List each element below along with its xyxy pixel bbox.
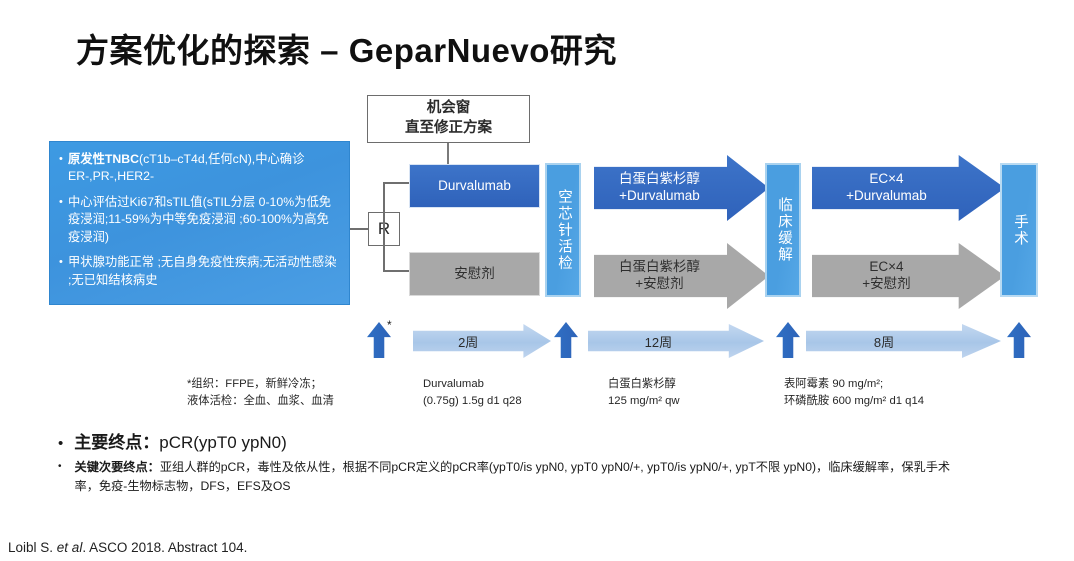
biopsy-footnote-marker: * (387, 318, 392, 332)
note-nab-paclitaxel-dosing: 白蛋白紫杉醇 125 mg/m² qw (608, 376, 680, 410)
randomization-split-line (383, 182, 385, 272)
note-ec-dosing: 表阿霉素 90 mg/m²; 环磷酰胺 600 mg/m² d1 q14 (784, 376, 924, 410)
arm-chemo1-experimental-text: 白蛋白紫杉醇 +Durvalumab (619, 171, 744, 205)
bullet-icon: • (59, 254, 68, 289)
secondary-endpoint-value: 亚组人群的pCR，毒性及依从性，根据不同pCR定义的pCR率(ypT0/is y… (75, 460, 951, 493)
arm-chemo1-control: 白蛋白紫杉醇 +安慰剂 (594, 243, 769, 309)
bullet-icon: • (58, 435, 63, 452)
arm-chemo1-control-line-1: 白蛋白紫杉醇 (619, 259, 700, 276)
bullet-icon: • (59, 151, 68, 186)
timeline-segment-window-label: 2周 (458, 332, 506, 351)
arm-chemo2-control: EC×4 +安慰剂 (812, 243, 1005, 309)
reference-citation: Loibl S. et al. ASCO 2018. Abstract 104. (8, 540, 247, 555)
randomization-branch-bottom-line (383, 270, 411, 272)
window-box-line-1: 机会窗 (427, 99, 471, 119)
arm-chemo1-experimental: 白蛋白紫杉醇 +Durvalumab (594, 155, 769, 221)
eligibility-item: • 中心评估过Ki67和sTIL值(sTIL分层 0-10%为低免疫浸润;11-… (59, 194, 338, 246)
timeline-segment-window: 2周 (413, 324, 551, 358)
eligibility-item: • 原发性TNBC(cT1b–cT4d,任何cN),中心确诊ER-,PR-,HE… (59, 151, 338, 186)
window-of-opportunity-box: 机会窗 直至修正方案 (367, 95, 530, 143)
randomization-inbound-line (350, 228, 368, 230)
arm-chemo2-experimental-line-1: EC×4 (846, 171, 927, 188)
arm-window-experimental: Durvalumab (409, 164, 540, 208)
primary-endpoint-row: • 主要终点： pCR(ypT0 ypN0) (58, 428, 287, 453)
reference-et-al: et al (57, 540, 83, 555)
reference-rest: . ASCO 2018. Abstract 104. (82, 540, 247, 555)
arm-chemo2-experimental-line-2: +Durvalumab (846, 188, 927, 205)
primary-endpoint-label: 主要终点： (74, 428, 159, 453)
page-title: 方案优化的探索 – GeparNuevo研究 (76, 24, 617, 72)
note-tissue-sampling: *组织：FFPE，新鲜冷冻； 液体活检：全血、血浆、血清 (187, 376, 334, 410)
reference-author: Loibl S. (8, 540, 53, 555)
eligibility-item: • 甲状腺功能正常 ;无自身免疫性疾病;无活动性感染 ;无已知结核病史 (59, 254, 338, 289)
arm-chemo1-experimental-line-2: +Durvalumab (619, 188, 700, 205)
arm-chemo2-control-line-2: +安慰剂 (862, 276, 910, 293)
arm-chemo2-experimental-text: EC×4 +Durvalumab (846, 171, 971, 205)
milestone-surgery-label: 手术 (1011, 214, 1027, 247)
eligibility-item-text: 原发性TNBC(cT1b–cT4d,任何cN),中心确诊ER-,PR-,HER2… (68, 151, 338, 186)
eligibility-item-text: 甲状腺功能正常 ;无自身免疫性疾病;无活动性感染 ;无已知结核病史 (68, 254, 338, 289)
eligibility-item-bold: 原发性TNBC (68, 152, 139, 166)
arm-chemo1-control-line-2: +安慰剂 (619, 276, 700, 293)
randomization-branch-top-line (383, 182, 411, 184)
arm-chemo2-control-text: EC×4 +安慰剂 (862, 259, 954, 293)
arm-window-control: 安慰剂 (409, 252, 540, 296)
timeline-segment-chemo2-label: 8周 (874, 332, 933, 351)
arm-chemo2-experimental: EC×4 +Durvalumab (812, 155, 1005, 221)
window-box-line-2: 直至修正方案 (405, 119, 492, 139)
primary-endpoint-value: pCR(ypT0 ypN0) (159, 433, 287, 453)
arm-window-control-label: 安慰剂 (454, 266, 495, 283)
milestone-clinical-response: 临床缓解 (765, 163, 801, 297)
timepoint-marker-post-window-icon (554, 322, 578, 358)
secondary-endpoint-row: • 关键次要终点：亚组人群的pCR，毒性及依从性，根据不同pCR定义的pCR率(… (58, 458, 958, 495)
bullet-icon: • (58, 458, 62, 475)
note-durvalumab-dosing: Durvalumab (0.75g) 1.5g d1 q28 (423, 376, 522, 410)
arm-chemo1-control-text: 白蛋白紫杉醇 +安慰剂 (619, 259, 744, 293)
timeline-segment-chemo2: 8周 (806, 324, 1001, 358)
eligibility-criteria-panel: • 原发性TNBC(cT1b–cT4d,任何cN),中心确诊ER-,PR-,HE… (49, 141, 350, 305)
eligibility-item-text: 中心评估过Ki67和sTIL值(sTIL分层 0-10%为低免疫浸润;11-59… (68, 194, 338, 246)
arm-chemo2-control-line-1: EC×4 (862, 259, 910, 276)
arm-window-experimental-label: Durvalumab (438, 178, 511, 195)
footer-divider (0, 524, 1074, 525)
milestone-core-needle-biopsy: 空芯针活检 (545, 163, 581, 297)
arm-chemo1-experimental-line-1: 白蛋白紫杉醇 (619, 171, 700, 188)
milestone-surgery: 手术 (1000, 163, 1038, 297)
timeline-segment-chemo1-label: 12周 (645, 332, 708, 351)
secondary-endpoint-label: 关键次要终点： (75, 460, 160, 474)
timepoint-marker-surgery-icon (1007, 322, 1031, 358)
timeline-segment-chemo1: 12周 (588, 324, 764, 358)
bullet-icon: • (59, 194, 68, 246)
milestone-core-needle-biopsy-label: 空芯针活检 (555, 189, 571, 272)
secondary-endpoint-text: 关键次要终点：亚组人群的pCR，毒性及依从性，根据不同pCR定义的pCR率(yp… (75, 458, 958, 495)
milestone-clinical-response-label: 临床缓解 (775, 197, 791, 263)
timepoint-marker-post-chemo1-icon (776, 322, 800, 358)
